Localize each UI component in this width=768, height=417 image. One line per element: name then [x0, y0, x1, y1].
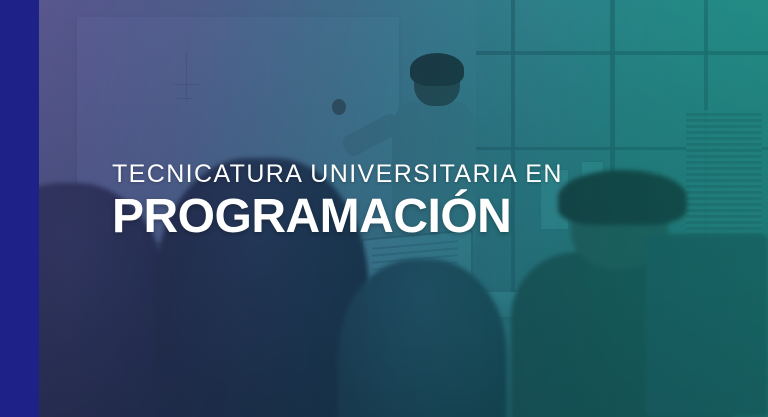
headline-line-1: TECNICATURA UNIVERSITARIA EN [112, 160, 672, 188]
headline-line-2: PROGRAMACIÓN [112, 192, 672, 242]
brand-accent-bar [0, 0, 39, 417]
headline-block: TECNICATURA UNIVERSITARIA EN PROGRAMACIÓ… [112, 160, 672, 242]
course-promo-banner: TECNICATURA UNIVERSITARIA EN PROGRAMACIÓ… [0, 0, 768, 417]
